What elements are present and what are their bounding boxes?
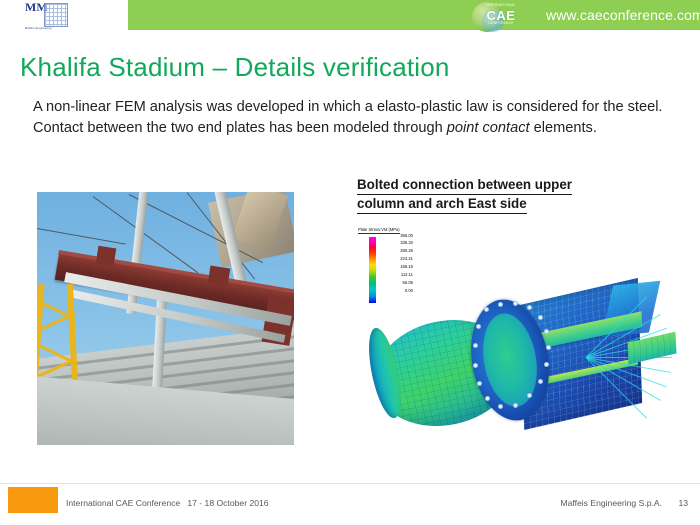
footer-divider — [0, 483, 700, 484]
footer-page-number: 13 — [678, 498, 688, 508]
stress-legend-title: Plate Stress:VM (MPa) — [358, 227, 400, 234]
fem-model-render — [372, 283, 672, 458]
figure-caption: Bolted connection between upper column a… — [357, 176, 657, 214]
slide-header: MM Maffeis Engineering INTERNATIONAL CAE… — [0, 0, 700, 30]
slide-body-text: A non-linear FEM analysis was developed … — [33, 97, 673, 139]
body-line-1: A non-linear FEM analysis was developed … — [33, 99, 503, 115]
fem-stress-plot: Plate Stress:VM (MPa) 355.00 336.32 280.… — [352, 225, 682, 460]
legend-tick: 280.26 — [379, 247, 413, 255]
maffeis-logo-grid-icon — [44, 3, 68, 27]
body-line-3-suffix: elements. — [530, 120, 597, 136]
maffeis-logo-subtitle: Maffeis Engineering — [25, 27, 52, 30]
crane-brace — [37, 358, 76, 379]
conference-website-url[interactable]: www.caeconference.com — [546, 7, 700, 23]
maffeis-logo-letters: MM — [25, 2, 43, 26]
stadium-construction-photo — [37, 192, 294, 445]
cae-conference-logo: INTERNATIONAL CAE CONFERENCE — [468, 1, 526, 31]
contact-element-line — [586, 357, 667, 387]
footer-accent-block — [8, 487, 58, 513]
legend-tick: 168.16 — [379, 263, 413, 271]
photo-beam-stiffener — [96, 246, 117, 267]
footer-conference-info: International CAE Conference 17 - 18 Oct… — [66, 498, 269, 508]
cae-logo-bottom-text: CONFERENCE — [479, 21, 523, 25]
maffeis-logo: MM Maffeis Engineering — [25, 2, 71, 34]
legend-tick: 112.11 — [379, 271, 413, 279]
footer-company-name: Maffeis Engineering S.p.A. — [560, 498, 662, 508]
body-line-3-emphasis: point contact — [447, 120, 530, 136]
figure-caption-line-1: Bolted connection between upper — [357, 176, 572, 195]
legend-tick: 336.32 — [379, 239, 413, 247]
footer-conference-dates: 17 - 18 October 2016 — [187, 498, 268, 508]
body-line-3-prefix: through — [393, 120, 447, 136]
slide-title: Khalifa Stadium – Details verification — [20, 52, 680, 83]
footer-conference-name: International CAE Conference — [66, 498, 180, 508]
figure-caption-line-2: column and arch East side — [357, 195, 527, 214]
cae-logo-top-text: INTERNATIONAL — [479, 3, 523, 7]
legend-tick: 224.21 — [379, 255, 413, 263]
photo-beam-stiffener — [208, 266, 231, 287]
